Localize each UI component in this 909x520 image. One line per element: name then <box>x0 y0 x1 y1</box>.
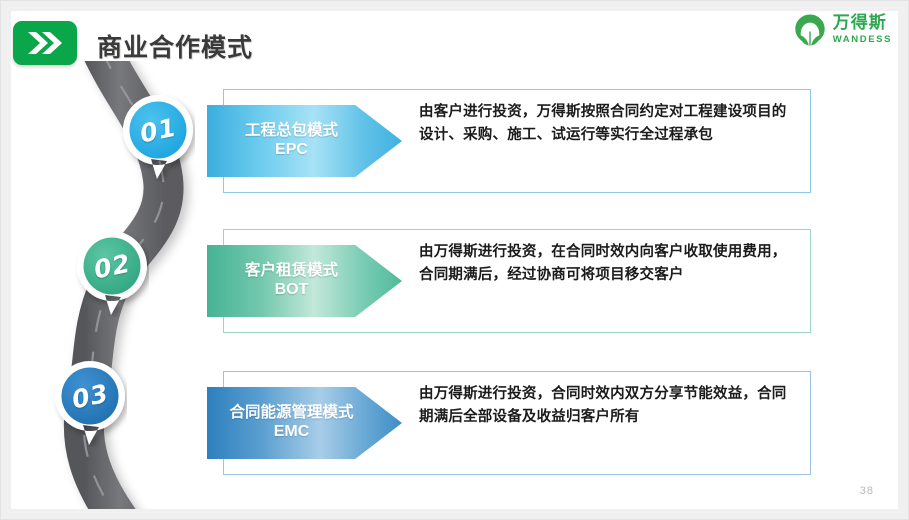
badge-number: 02 <box>91 248 133 284</box>
slide-canvas: 商业合作模式 万得斯 WANDESS <box>0 0 909 520</box>
brand-name-cn: 万得斯 <box>833 15 892 32</box>
mode-title-cn: 合同能源管理模式 <box>229 403 353 422</box>
brand-logo: 万得斯 WANDESS <box>793 13 892 47</box>
step-badge-01[interactable]: 01 <box>121 93 195 181</box>
page-title: 商业合作模式 <box>97 28 253 64</box>
wandess-plant-logo-icon <box>793 13 827 47</box>
badge-number: 03 <box>69 378 111 414</box>
mode-title-cn: 客户租赁模式 <box>245 261 338 280</box>
mode-title-en: EMC <box>274 422 310 443</box>
badge-number-wrap: 02 <box>75 229 149 303</box>
mode-title-en: BOT <box>275 280 309 301</box>
mode-title-en: EPC <box>275 140 308 161</box>
page-number: 38 <box>860 485 874 497</box>
brand-name-en: WANDESS <box>833 35 892 45</box>
mode-description: 由客户进行投资，万得斯按照合同约定对工程建设项目的设计、采购、施工、试运行等实行… <box>419 101 797 147</box>
mode-title-cn: 工程总包模式 <box>245 121 338 140</box>
badge-number-wrap: 03 <box>53 359 127 433</box>
step-badge-02[interactable]: 02 <box>75 229 149 317</box>
step-badge-03[interactable]: 03 <box>53 359 127 447</box>
double-chevron-right-icon <box>13 21 77 65</box>
badge-number: 01 <box>137 112 179 148</box>
mode-description: 由万得斯进行投资，合同时效内双方分享节能效益，合同期满后全部设备及收益归客户所有 <box>419 383 797 429</box>
mode-description: 由万得斯进行投资，在合同时效内向客户收取使用费用，合同期满后，经过协商可将项目移… <box>419 241 797 287</box>
badge-number-wrap: 01 <box>121 93 195 167</box>
